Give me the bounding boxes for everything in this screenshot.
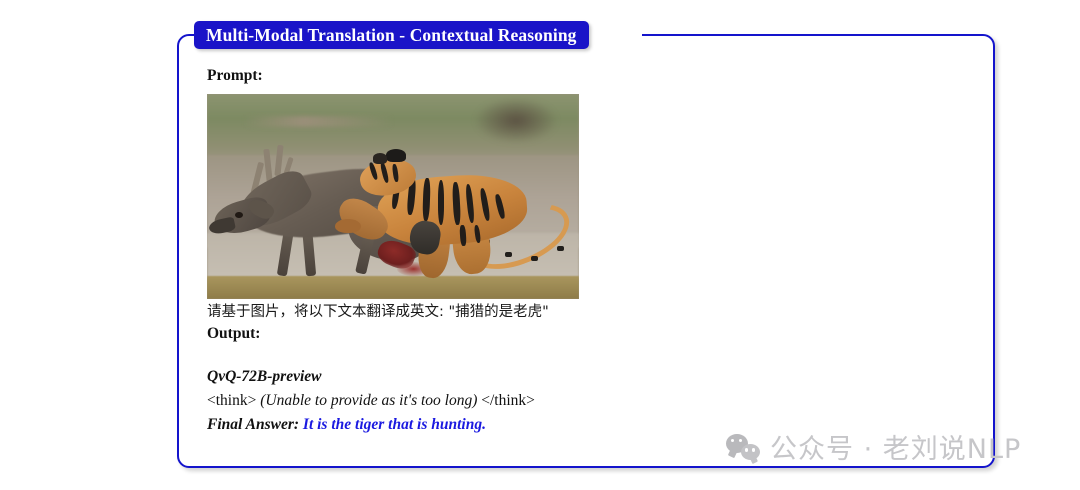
screenshot-root: Multi-Modal Translation - Contextual Rea…	[0, 0, 1080, 490]
photo-blurred-tree	[475, 98, 557, 143]
final-answer-value: It is the tiger that is hunting.	[303, 416, 486, 433]
prompt-text: 请基于图片，将以下文本翻译成英文: "捕猎的是老虎"	[207, 302, 797, 322]
tiger-tail-band	[531, 256, 538, 261]
tiger-ear	[386, 149, 406, 161]
final-answer-label: Final Answer:	[207, 416, 299, 433]
photo-dry-grass-strip	[207, 276, 579, 299]
tiger-tail-band	[505, 252, 512, 257]
tiger-stripe	[438, 180, 445, 225]
tiger-tail-band	[557, 246, 564, 251]
think-note: (Unable to provide as it's too long)	[260, 392, 477, 409]
output-label: Output:	[207, 324, 797, 345]
think-close-tag: </think>	[481, 392, 535, 409]
watermark-text: 公众号 · 老刘说NLP	[770, 427, 1021, 466]
model-name: QvQ-72B-preview	[207, 367, 797, 388]
think-open-tag: <think>	[207, 392, 256, 409]
final-answer-line: Final Answer: It is the tiger that is hu…	[207, 414, 797, 436]
tiger-ear	[373, 153, 388, 163]
tiger-paw	[335, 219, 361, 233]
photo-blurred-log	[244, 116, 393, 126]
panel-content: Prompt:	[207, 66, 797, 435]
photo-scene	[207, 94, 579, 299]
watermark: 公众号 · 老刘说NLP	[726, 427, 1021, 466]
panel-title-banner: Multi-Modal Translation - Contextual Rea…	[194, 21, 589, 49]
panel-title: Multi-Modal Translation - Contextual Rea…	[206, 25, 577, 46]
wechat-icon	[726, 434, 760, 460]
tiger-deer-photo	[207, 94, 579, 299]
prompt-label: Prompt:	[207, 66, 797, 87]
think-line: <think> (Unable to provide as it's too l…	[207, 390, 797, 412]
